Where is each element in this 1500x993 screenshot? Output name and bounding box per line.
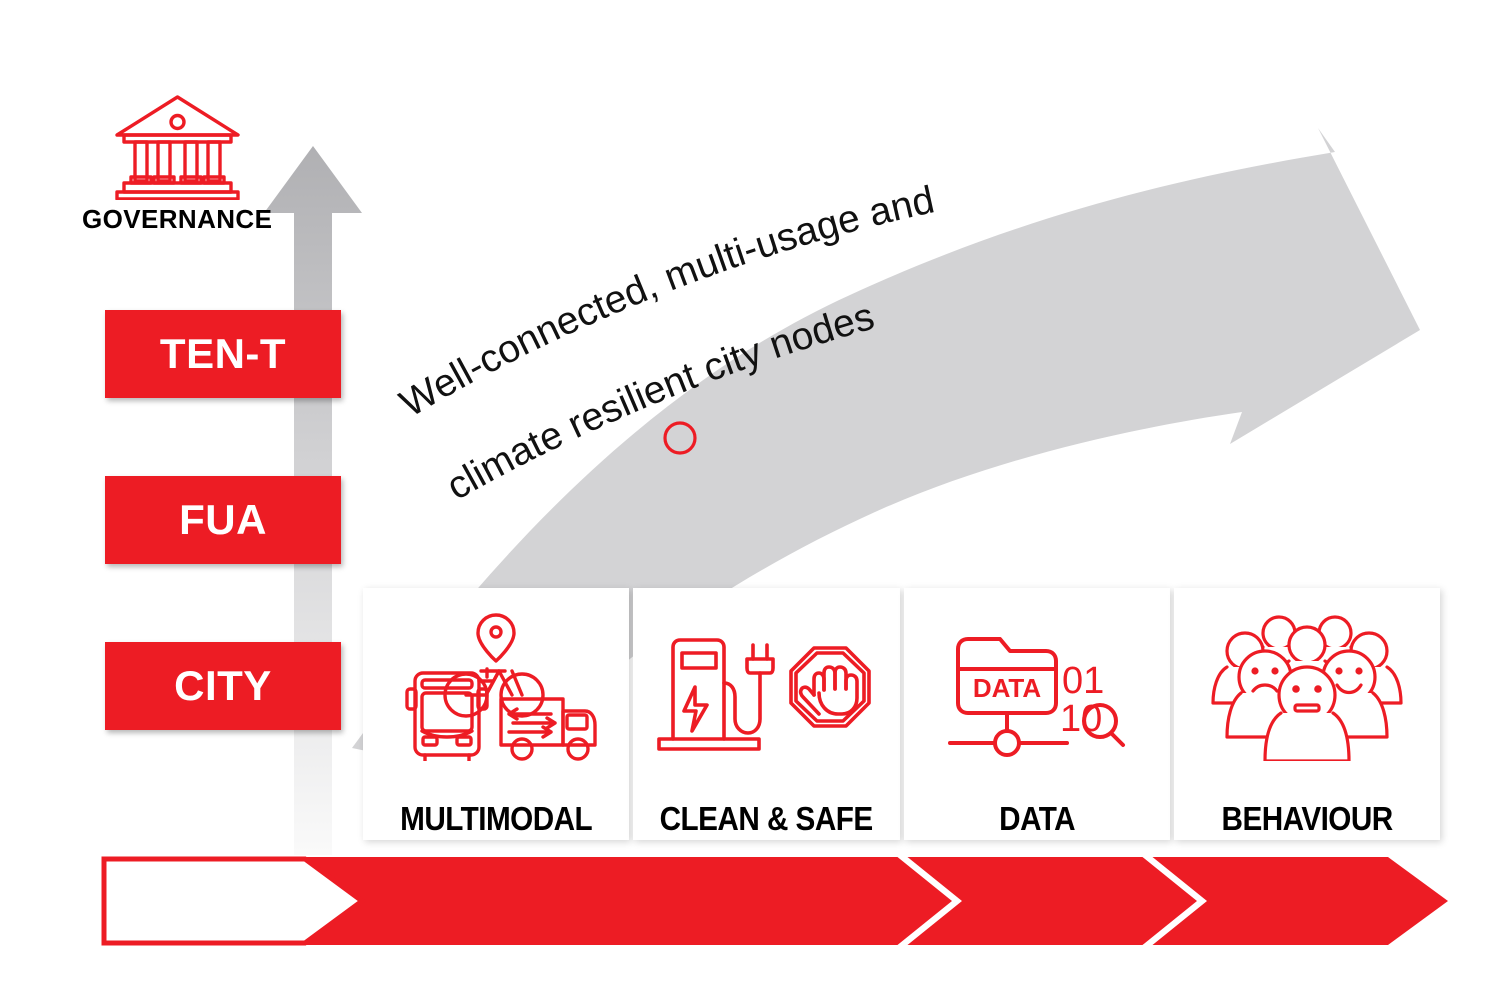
curved-arrow-line-2: climate resilient city nodes xyxy=(440,295,879,509)
level-bar-fua[interactable]: FUA xyxy=(105,476,341,564)
chevron-infrastructural[interactable] xyxy=(305,857,1448,945)
pillar-card-multimodal[interactable]: MULTIMODAL xyxy=(363,588,629,840)
binary-bottom-text: 10 xyxy=(1060,698,1102,740)
pillar-label-multimodal: MULTIMODAL xyxy=(376,800,616,838)
blank-chevron[interactable] xyxy=(104,859,362,943)
pillar-card-behaviour[interactable]: BEHAVIOUR xyxy=(1174,588,1440,840)
circle-bullet-icon xyxy=(665,423,695,453)
pillar-label-clean-safe: CLEAN & SAFE xyxy=(647,800,887,838)
stop-hand-sign-icon xyxy=(791,648,869,726)
pillar-label-behaviour: BEHAVIOUR xyxy=(1187,800,1427,838)
data-icon-group: DATA 01 10 xyxy=(942,610,1132,762)
binary-top-text: 01 xyxy=(1062,660,1104,702)
pillar-card-list: MULTIMODAL xyxy=(363,588,1440,840)
ev-charging-station-icon xyxy=(659,640,773,749)
pillar-card-data[interactable]: DATA 01 10 DATA xyxy=(904,588,1170,840)
diagram-canvas: GOVERNANCE TEN-T FUA CITY Well-connected… xyxy=(0,0,1500,993)
level-label: TEN-T xyxy=(160,330,286,378)
level-bar-ten-t[interactable]: TEN-T xyxy=(105,310,341,398)
behaviour-icon-group xyxy=(1207,610,1407,762)
governance-block: GOVERNANCE xyxy=(82,92,272,235)
process-chevron-ribbon xyxy=(100,855,1450,947)
delivery-truck-icon xyxy=(501,699,595,759)
network-node-icon xyxy=(950,713,1067,755)
curved-arrow-line-1: Well-connected, multi-usage and xyxy=(393,178,938,425)
pillar-card-clean-safe[interactable]: CLEAN & SAFE xyxy=(633,588,899,840)
level-bar-city[interactable]: CITY xyxy=(105,642,341,730)
ribbon-label-human: Human xyxy=(1090,28,1320,65)
multimodal-icon-group xyxy=(381,610,611,762)
pillar-label-data: DATA xyxy=(917,800,1157,838)
ribbon-label-infrastructural: Infrastructural xyxy=(300,28,620,65)
level-label: CITY xyxy=(174,662,272,710)
location-pin-icon xyxy=(478,615,514,661)
classical-building-icon xyxy=(110,92,245,200)
data-folder-text: DATA xyxy=(972,673,1041,703)
level-label: FUA xyxy=(179,496,267,544)
governance-label: GOVERNANCE xyxy=(82,204,272,235)
clean-safe-icon-group xyxy=(651,610,881,762)
ribbon-label-digital: Digital xyxy=(830,28,1060,65)
